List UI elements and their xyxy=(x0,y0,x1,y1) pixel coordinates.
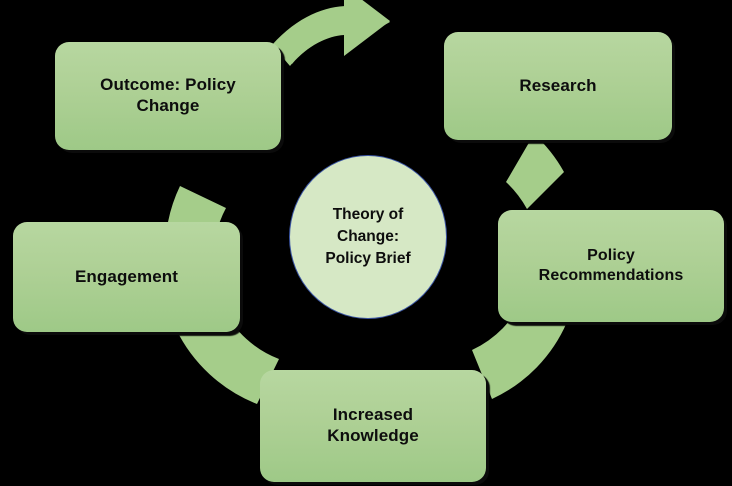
node-label-research: Research xyxy=(519,76,596,97)
hub-label: Theory of Change: Policy Brief xyxy=(325,204,410,270)
node-engagement[interactable]: Engagement xyxy=(13,222,240,332)
node-label-outcome-policy-change: Outcome: Policy Change xyxy=(100,75,236,116)
node-label-engagement: Engagement xyxy=(75,267,178,288)
node-outcome-policy-change[interactable]: Outcome: Policy Change xyxy=(55,42,281,150)
node-label-increased-knowledge: Increased Knowledge xyxy=(327,405,419,446)
node-research[interactable]: Research xyxy=(444,32,672,140)
node-label-policy-recommendations: Policy Recommendations xyxy=(539,246,684,285)
node-increased-knowledge[interactable]: Increased Knowledge xyxy=(260,370,486,482)
hub-theory-of-change[interactable]: Theory of Change: Policy Brief xyxy=(289,155,447,319)
node-policy-recommendations[interactable]: Policy Recommendations xyxy=(498,210,724,322)
connector-research-to-policy-recommendations xyxy=(506,134,564,209)
arrow-shaft-fill xyxy=(272,6,348,66)
cycle-diagram: Outcome: Policy Change Research Policy R… xyxy=(0,0,732,486)
